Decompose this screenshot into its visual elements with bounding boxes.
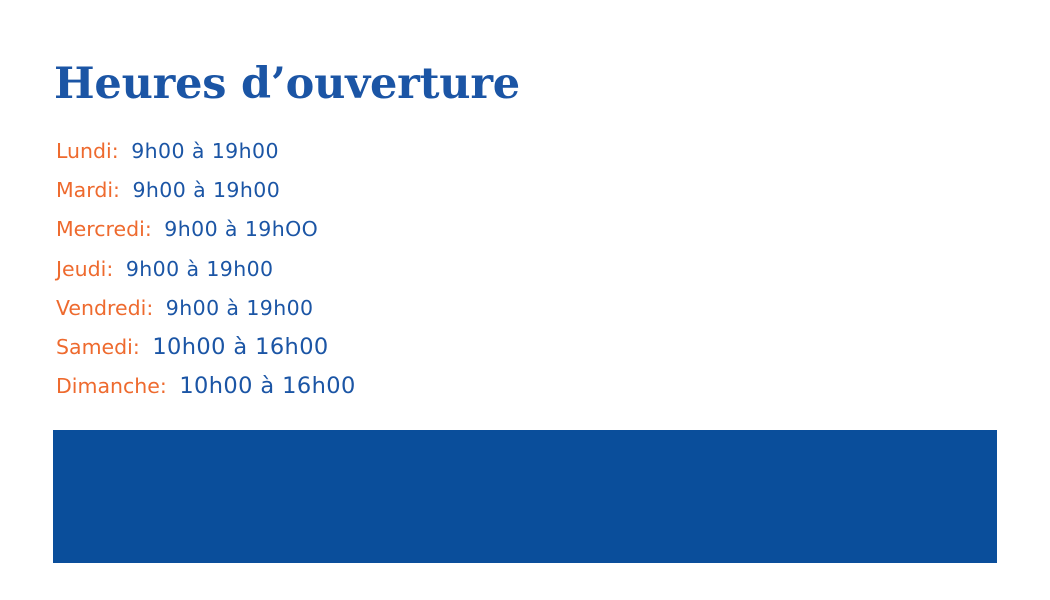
day-label: Lundi: bbox=[56, 139, 119, 163]
day-label: Samedi: bbox=[56, 335, 140, 359]
day-label: Mardi: bbox=[56, 178, 120, 202]
page-title: Heures d’ouverture bbox=[54, 61, 520, 107]
day-label: Vendredi: bbox=[56, 296, 153, 320]
time-value: 9h00 à 19h00 bbox=[131, 139, 279, 163]
day-label: Mercredi: bbox=[56, 217, 152, 241]
list-item: Jeudi: 9h00 à 19h00 bbox=[56, 250, 756, 289]
slide-canvas: Heures d’ouverture Lundi: 9h00 à 19h00 M… bbox=[0, 0, 1050, 600]
time-value: 9h00 à 19hOO bbox=[164, 217, 318, 241]
day-label: Dimanche: bbox=[56, 374, 167, 398]
list-item: Mercredi: 9h00 à 19hOO bbox=[56, 210, 756, 249]
footer-banner bbox=[53, 430, 997, 563]
time-value: 10h00 à 16h00 bbox=[179, 373, 355, 399]
opening-hours-list: Lundi: 9h00 à 19h00 Mardi: 9h00 à 19h00 … bbox=[56, 132, 756, 406]
time-value: 9h00 à 19h00 bbox=[166, 296, 314, 320]
list-item: Mardi: 9h00 à 19h00 bbox=[56, 171, 756, 210]
list-item: Samedi: 10h00 à 16h00 bbox=[56, 328, 756, 367]
time-value: 10h00 à 16h00 bbox=[152, 334, 328, 360]
day-label: Jeudi: bbox=[56, 257, 113, 281]
time-value: 9h00 à 19h00 bbox=[126, 257, 274, 281]
list-item: Lundi: 9h00 à 19h00 bbox=[56, 132, 756, 171]
list-item: Vendredi: 9h00 à 19h00 bbox=[56, 289, 756, 328]
time-value: 9h00 à 19h00 bbox=[132, 178, 280, 202]
list-item: Dimanche: 10h00 à 16h00 bbox=[56, 367, 756, 406]
